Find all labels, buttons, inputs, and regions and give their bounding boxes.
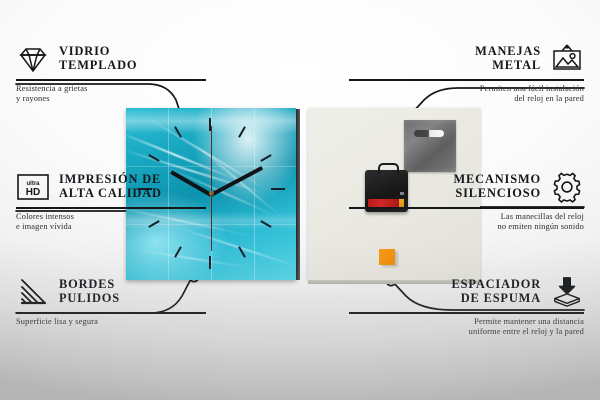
diamond-icon — [16, 42, 50, 76]
feature-description: Resistencia a grietas y rayones — [16, 84, 251, 105]
feature-description: Permite mantener una distancia uniforme … — [349, 317, 584, 338]
feature-description: Superficie lisa y segura — [16, 317, 251, 328]
feature-title: BORDES PULIDOS — [59, 278, 120, 305]
divider — [16, 79, 206, 81]
feature-title: MANEJAS METAL — [475, 45, 541, 72]
tick-6 — [209, 256, 211, 269]
foam-spacer-pad — [379, 249, 395, 265]
feature-title: ESPACIADOR DE ESPUMA — [451, 278, 541, 305]
ultra-hd-icon: ultra HD — [16, 170, 50, 204]
tick-3 — [271, 188, 285, 190]
feature-title: VIDRIO TEMPLADO — [59, 45, 137, 72]
gear-icon — [550, 170, 584, 204]
feature-title: MECANISMO SILENCIOSO — [454, 173, 542, 200]
feature-mecanismo-silencioso[interactable]: MECANISMO SILENCIOSO Las manecillas del … — [349, 170, 584, 233]
divider — [349, 312, 584, 314]
svg-text:HD: HD — [26, 187, 40, 198]
feature-description: Permiten una fácil instalación del reloj… — [349, 84, 584, 105]
polished-edges-icon — [16, 275, 50, 309]
feature-vidrio-templado[interactable]: VIDRIO TEMPLADO Resistencia a grietas y … — [16, 42, 251, 105]
divider — [16, 312, 206, 314]
infographic-canvas: VIDRIO TEMPLADO Resistencia a grietas y … — [0, 0, 600, 400]
feature-impresion-alta-calidad[interactable]: ultra HD IMPRESIÓN DE ALTA CALIDAD Color… — [16, 170, 251, 233]
feature-description: Colores intensos e imagen vívida — [16, 212, 251, 233]
divider — [16, 207, 206, 209]
foam-spacer-arrow-icon — [550, 275, 584, 309]
feature-manejas-metal[interactable]: MANEJAS METAL Permiten una fácil instala… — [349, 42, 584, 105]
divider — [349, 207, 584, 209]
divider — [349, 79, 584, 81]
picture-frame-hanger-icon — [550, 42, 584, 76]
metal-hanger-plate — [404, 120, 456, 172]
feature-bordes-pulidos[interactable]: BORDES PULIDOS Superficie lisa y segura — [16, 275, 251, 327]
feature-description: Las manecillas del reloj no emiten ningú… — [349, 212, 584, 233]
feature-espaciador-espuma[interactable]: ESPACIADOR DE ESPUMA Permite mantener un… — [349, 275, 584, 338]
feature-title: IMPRESIÓN DE ALTA CALIDAD — [59, 173, 162, 200]
hanger-slot — [414, 130, 444, 137]
